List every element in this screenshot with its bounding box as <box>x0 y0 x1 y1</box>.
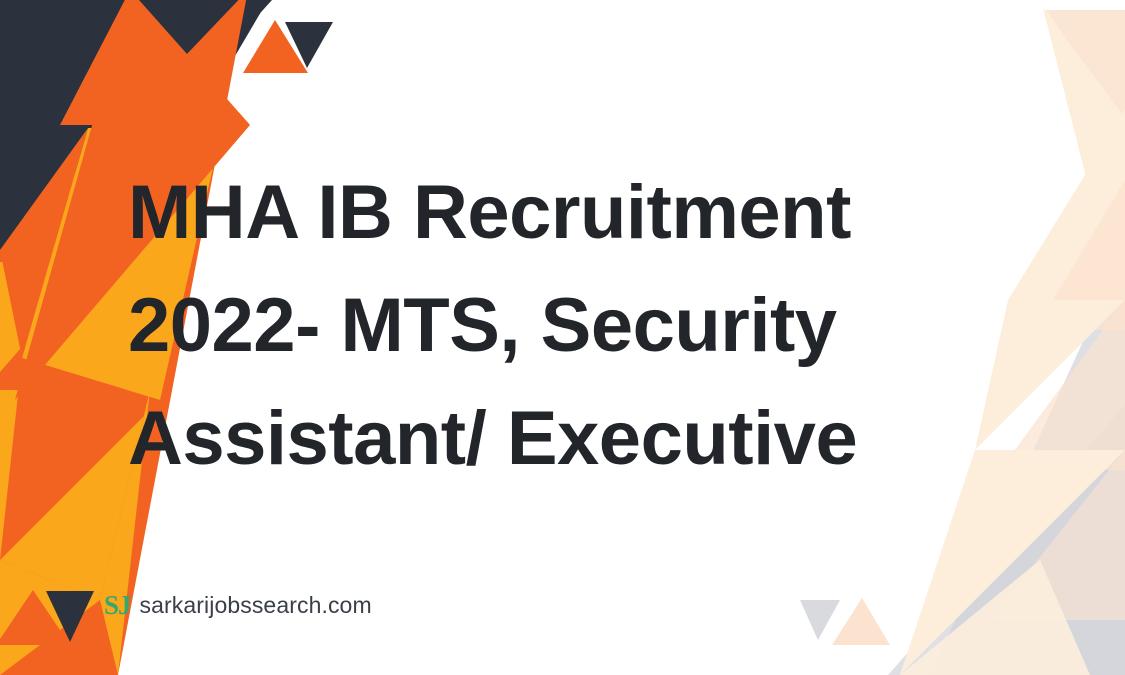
bottom-right-faded-pair <box>800 598 890 645</box>
poster-canvas: MHA IB Recruitment 2022- MTS, Security A… <box>0 0 1125 675</box>
brand-watermark: SJ sarkarijobssearch.com <box>104 592 372 619</box>
bottom-triangle-pair <box>0 590 94 645</box>
faded-grey-down-triangle <box>800 600 840 640</box>
brand-domain-label: sarkarijobssearch.com <box>140 594 372 617</box>
sj-logo-icon: SJ <box>104 592 131 619</box>
top-triangle-pair <box>243 20 333 73</box>
page-title: MHA IB Recruitment 2022- MTS, Security A… <box>128 156 1018 495</box>
bottom-orange-up-triangle <box>0 590 70 645</box>
faded-peach-up-triangle <box>832 598 890 645</box>
top-orange-up-triangle <box>243 20 308 73</box>
bottom-navy-down-triangle <box>46 591 94 642</box>
top-navy-down-triangle <box>285 22 333 68</box>
